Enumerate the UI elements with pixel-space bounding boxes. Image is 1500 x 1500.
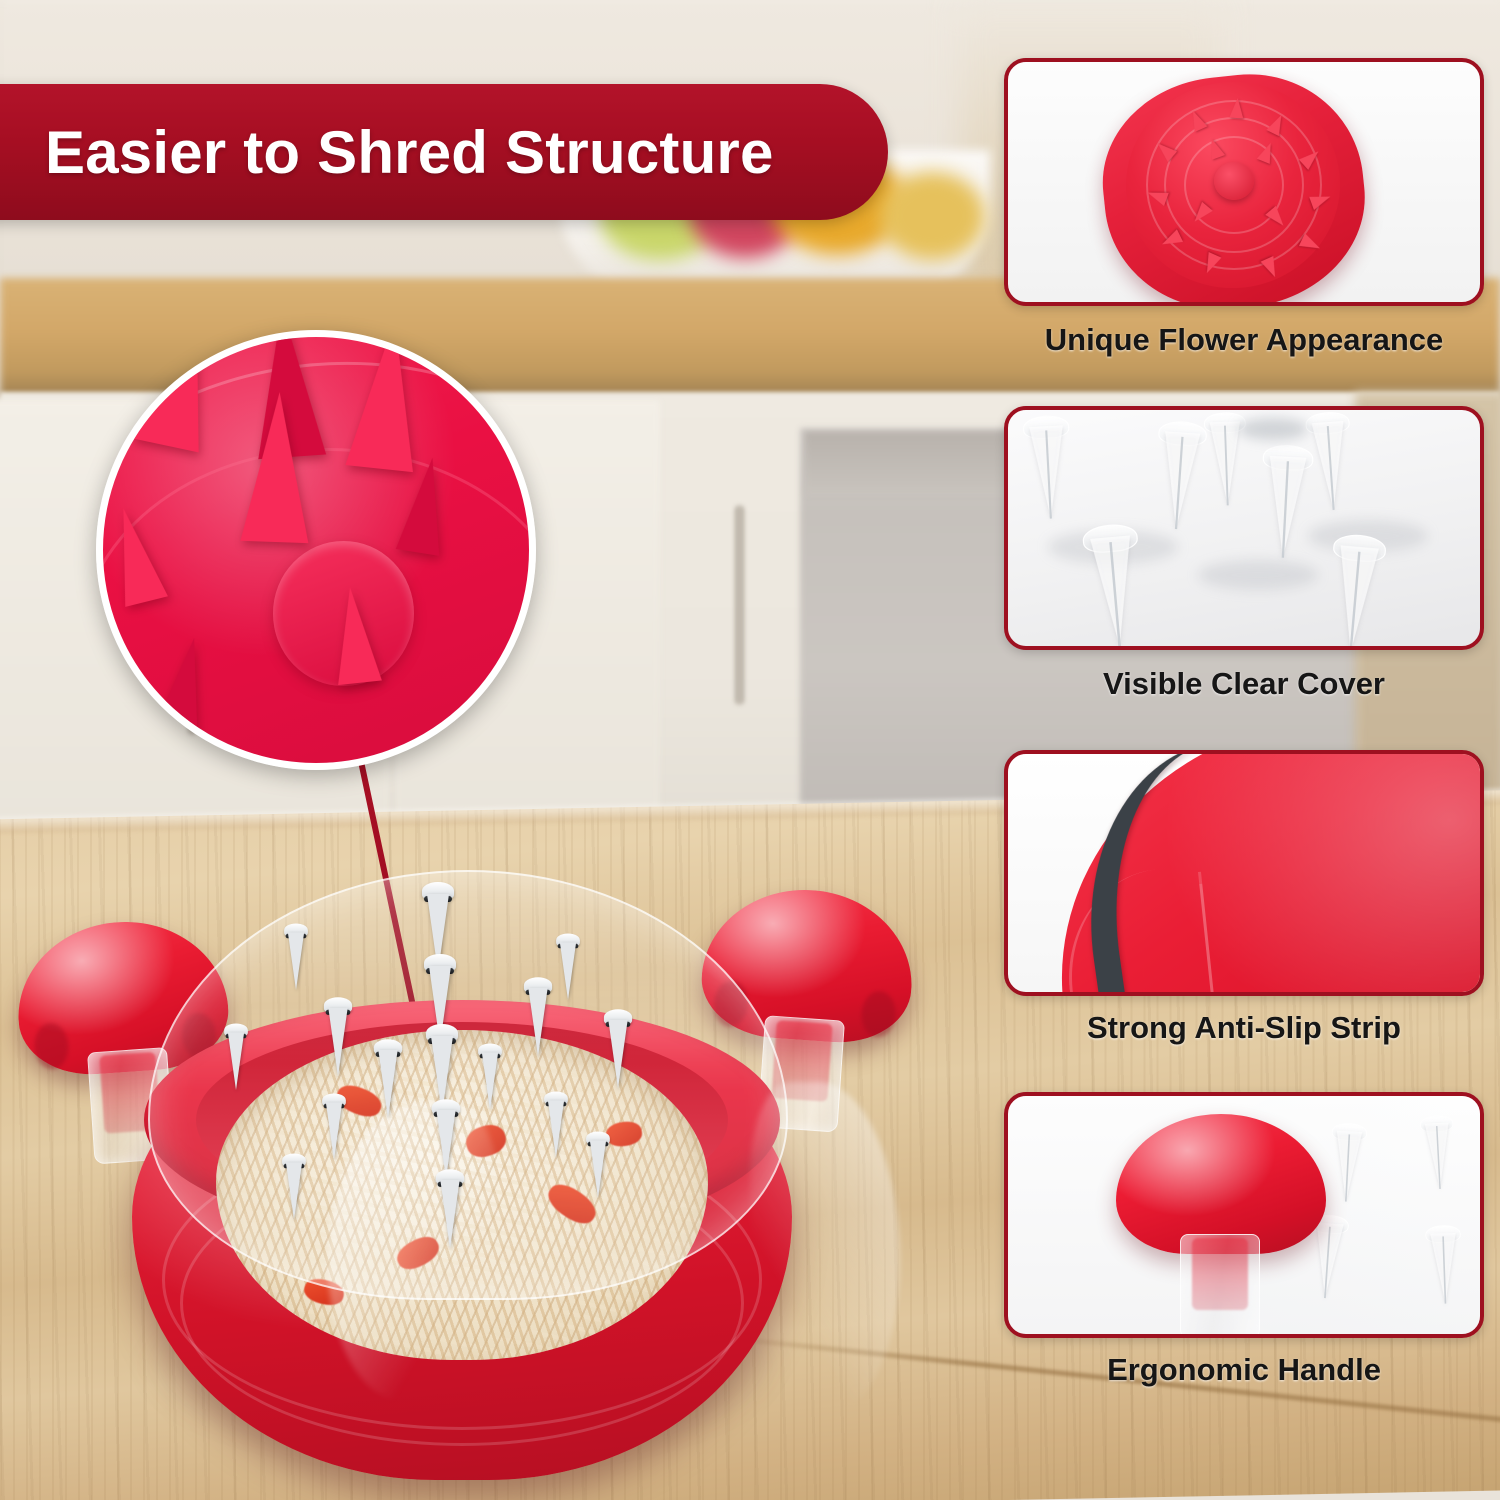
background-fruit (880, 172, 985, 260)
chicken-shredder (20, 880, 920, 1500)
blade-spike (602, 1006, 634, 1090)
lid-spike (1229, 98, 1244, 119)
dome-highlight (750, 1082, 900, 1412)
clear-cone-spike (1324, 523, 1388, 650)
blade-spike (543, 1088, 570, 1159)
blade-spike (585, 1128, 612, 1199)
flower-lid-hub (1214, 162, 1254, 200)
blade-spike (434, 1166, 466, 1250)
title-banner: Easier to Shred Structure (0, 84, 888, 220)
blade-spike (281, 1150, 308, 1221)
product-infographic: Easier to Shred Structure (0, 0, 1500, 1500)
clear-cone-spike (1419, 1109, 1456, 1192)
cover-knob-shadow (1238, 418, 1308, 440)
anti-slip-strip (1066, 750, 1359, 996)
clear-cone-spike (1304, 406, 1355, 513)
blade-spike (372, 1036, 404, 1120)
clear-cone-spike (1425, 1218, 1463, 1306)
clear-cone-spike (1152, 411, 1209, 533)
blade-spike (322, 994, 354, 1078)
clear-cone-spike (1203, 406, 1248, 508)
knob-cap (1116, 1114, 1326, 1254)
feature-label-ergonomic-handle: Ergonomic Handle (1004, 1352, 1484, 1388)
blade-spike (321, 1090, 348, 1161)
knob-stem-tint (1192, 1238, 1248, 1310)
clear-cone-spike (1257, 435, 1314, 562)
feature-label-strong-anti-slip-strip: Strong Anti-Slip Strip (1004, 1010, 1484, 1046)
blade-spike (283, 920, 310, 991)
ergonomic-knob (1116, 1114, 1326, 1328)
shred-structure-closeup (96, 330, 536, 770)
cone-spike-center (240, 391, 313, 543)
feature-card-visible-clear-cover[interactable] (1004, 406, 1484, 650)
feature-label-unique-flower-appearance: Unique Flower Appearance (1004, 322, 1484, 358)
clear-cone-spike (1081, 512, 1148, 650)
feature-card-list: Unique Flower Appearance Visible Clear C… (1004, 0, 1500, 1500)
blade-spike (477, 1040, 504, 1111)
spike-shadow (1198, 560, 1318, 590)
clear-cone-spike (1022, 406, 1074, 522)
clear-cone-spike (1328, 1116, 1368, 1204)
blade-spike (522, 974, 554, 1058)
feature-card-strong-anti-slip-strip[interactable] (1004, 750, 1484, 996)
blade-spike (223, 1020, 250, 1091)
dome-highlight (328, 1102, 498, 1402)
feature-label-visible-clear-cover: Visible Clear Cover (1004, 666, 1484, 702)
feature-card-ergonomic-handle[interactable] (1004, 1092, 1484, 1338)
blade-spike (555, 930, 582, 1001)
background-cabinet-handle (735, 505, 744, 705)
feature-card-unique-flower-appearance[interactable] (1004, 58, 1484, 306)
page-title: Easier to Shred Structure (45, 118, 774, 187)
